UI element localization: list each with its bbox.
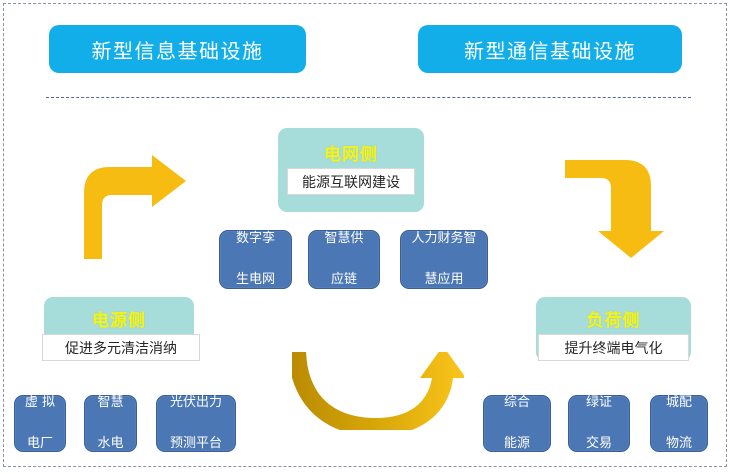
box-label-line2: 交易 (582, 434, 616, 454)
bent-arrow-up-right-icon (78, 155, 188, 260)
box-label: 数字孪 生电网 (228, 229, 283, 289)
panel-grid-side[interactable]: 电网侧 能源互联网建设 (278, 128, 424, 212)
box-label-line1: 虚 拟 (21, 393, 59, 413)
box-label-line1: 综合 (500, 393, 534, 413)
box-label: 智慧 水电 (89, 393, 131, 453)
panel-load-side-label: 提升终端电气化 (538, 334, 689, 361)
box-smart-hydropower[interactable]: 智慧 水电 (84, 395, 137, 452)
box-label-line2: 水电 (93, 434, 127, 454)
box-hr-finance-smart-application[interactable]: 人力财务智 慧应用 (400, 230, 488, 289)
bent-arrow-right-down-icon (565, 155, 665, 260)
box-label-line1: 人力财务智 (407, 229, 480, 249)
box-label-line1: 智慧 (93, 393, 127, 413)
panel-load-side-title: 负荷侧 (536, 306, 691, 331)
header-divider (46, 97, 691, 98)
box-label-line2: 预测平台 (166, 434, 226, 454)
diagram-canvas: 新型信息基础设施 新型通信基础设施 电网侧 能源互联网建设 电源侧 促进多元清洁… (0, 0, 730, 474)
header-pill-label: 新型通信基础设施 (464, 35, 636, 64)
box-label-line2: 物流 (662, 434, 696, 454)
box-integrated-energy[interactable]: 综合 能源 (483, 395, 551, 452)
header-pill-label: 新型信息基础设施 (92, 35, 264, 64)
box-virtual-power-plant[interactable]: 虚 拟 电厂 (14, 395, 66, 452)
panel-grid-side-label: 能源互联网建设 (287, 168, 415, 195)
box-green-certificate-trading[interactable]: 绿证 交易 (568, 395, 630, 452)
box-label: 智慧供 应链 (316, 229, 371, 289)
box-label: 光伏出力 预测平台 (162, 393, 230, 453)
box-label-line1: 绿证 (582, 393, 616, 413)
box-label: 绿证 交易 (578, 393, 620, 453)
box-label-line2: 慧应用 (407, 270, 480, 290)
box-smart-supply-chain[interactable]: 智慧供 应链 (308, 230, 380, 289)
header-pill-new-communication-infrastructure[interactable]: 新型通信基础设施 (418, 25, 682, 73)
box-label-line2: 能源 (500, 434, 534, 454)
box-label-line1: 数字孪 (232, 229, 279, 249)
box-label: 城配 物流 (658, 393, 700, 453)
panel-source-side-label: 促进多元清洁消纳 (42, 334, 200, 361)
box-label-line1: 城配 (662, 393, 696, 413)
box-label-line2: 应链 (320, 270, 367, 290)
box-digital-twin-grid[interactable]: 数字孪 生电网 (219, 230, 292, 289)
box-label-line2: 电厂 (21, 434, 59, 454)
box-label: 人力财务智 慧应用 (403, 229, 484, 289)
box-label: 综合 能源 (496, 393, 538, 453)
panel-source-side-title: 电源侧 (44, 306, 194, 331)
box-urban-distribution-logistics[interactable]: 城配 物流 (650, 395, 708, 452)
header-pill-new-information-infrastructure[interactable]: 新型信息基础设施 (49, 25, 306, 73)
box-label-line1: 光伏出力 (166, 393, 226, 413)
box-label-line2: 生电网 (232, 270, 279, 290)
panel-grid-side-title: 电网侧 (278, 140, 424, 165)
box-pv-output-forecast-platform[interactable]: 光伏出力 预测平台 (156, 395, 236, 452)
box-label-line1: 智慧供 (320, 229, 367, 249)
box-label: 虚 拟 电厂 (17, 393, 63, 453)
curved-arrow-u-turn-up-icon (292, 352, 464, 430)
